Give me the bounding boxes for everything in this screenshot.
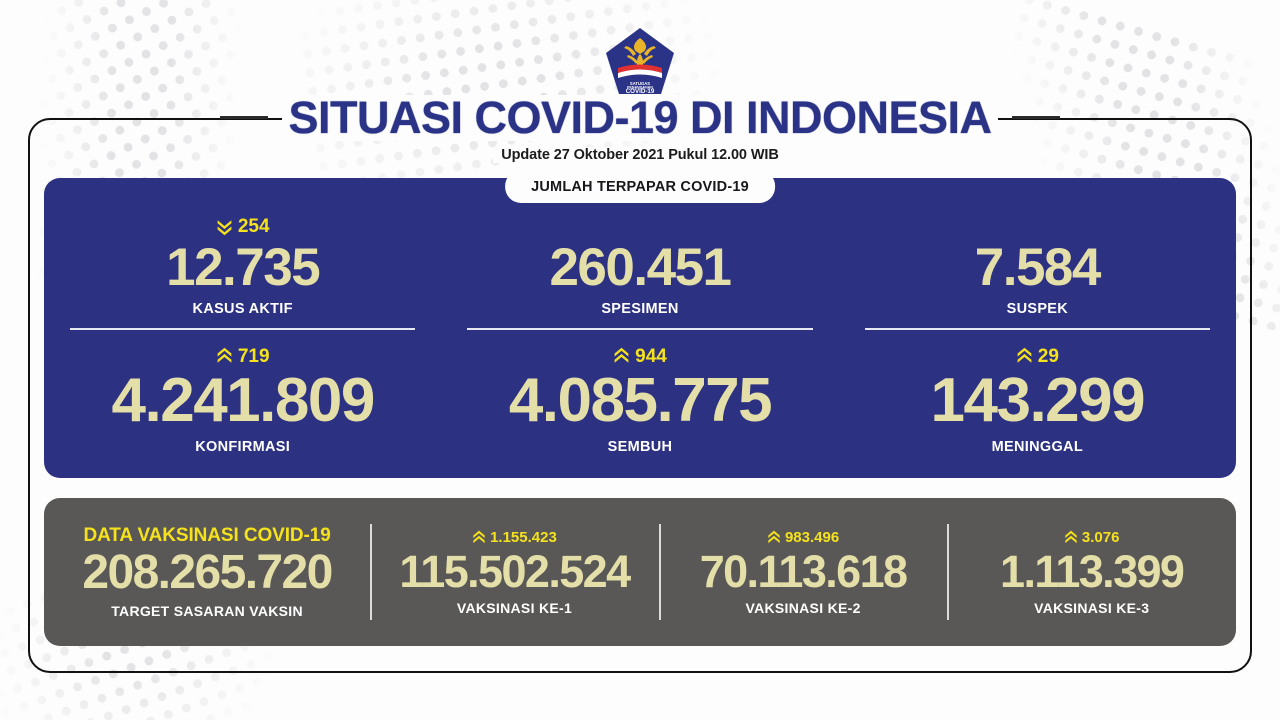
stat-delta-value: 719	[238, 347, 270, 366]
page-title: SITUASI COVID-19 DI INDONESIA	[282, 95, 997, 141]
vax-label: VAKSINASI KE-3	[1034, 600, 1149, 616]
vax-value: 1.113.399	[1000, 549, 1183, 594]
status-badge: JUMLAH TERPAPAR COVID-19	[505, 170, 775, 203]
update-timestamp: Update 27 Oktober 2021 Pukul 12.00 WIB	[493, 147, 786, 163]
title-rule-right	[1012, 116, 1060, 119]
chevron-double-up-icon	[216, 347, 233, 365]
stat-value: 12.735	[166, 241, 319, 294]
infographic-page: SATUGAS PENANGANAN COVID-19 SITUASI COVI…	[0, 0, 1280, 720]
stat-delta-kasus-aktif: 254	[216, 216, 270, 238]
title-row: SITUASI COVID-19 DI INDONESIA	[0, 95, 1280, 141]
stat-value: 260.451	[549, 241, 730, 294]
stat-meninggal: 29 143.299 MENINGGAL	[839, 328, 1236, 478]
stat-value: 143.299	[931, 370, 1145, 432]
chevron-double-down-icon	[216, 218, 233, 236]
stats-grid: 254 12.735 KASUS AKTIF 260.451 SPESIMEN …	[44, 178, 1236, 478]
vax-delta-value: 1.155.423	[490, 530, 557, 545]
stat-value: 7.584	[975, 241, 1100, 294]
vax-delta-dose-2: 983.496	[767, 529, 839, 547]
vax-value: 208.265.720	[82, 549, 331, 597]
stat-delta-meninggal: 29	[1016, 345, 1059, 367]
vax-value: 70.113.618	[700, 549, 907, 594]
vax-value: 115.502.524	[399, 549, 629, 594]
stat-delta-sembuh: 944	[613, 345, 667, 367]
stat-label: SUSPEK	[1007, 301, 1068, 317]
satgas-covid19-logo: SATUGAS PENANGANAN COVID-19	[604, 26, 676, 98]
logo-text-line3: COVID-19	[626, 88, 655, 95]
vaccination-panel: DATA VAKSINASI COVID-19 208.265.720 TARG…	[44, 498, 1236, 646]
stat-label: SPESIMEN	[601, 301, 678, 317]
vax-dose-1: 1.155.423 115.502.524 VAKSINASI KE-1	[370, 498, 659, 646]
stat-label: SEMBUH	[608, 439, 673, 455]
vax-delta-value: 3.076	[1082, 530, 1120, 545]
stat-delta-value: 944	[635, 347, 667, 366]
stat-label: KASUS AKTIF	[193, 301, 293, 317]
chevron-double-up-icon	[1016, 347, 1033, 365]
chevron-double-up-icon	[1064, 530, 1078, 545]
chevron-double-up-icon	[767, 530, 781, 545]
stat-value: 4.241.809	[112, 370, 374, 432]
vax-label: VAKSINASI KE-2	[745, 600, 860, 616]
stat-delta-konfirmasi: 719	[216, 345, 270, 367]
covid-stats-panel: 254 12.735 KASUS AKTIF 260.451 SPESIMEN …	[44, 178, 1236, 478]
chevron-double-up-icon	[472, 530, 486, 545]
vax-delta-value: 983.496	[785, 530, 839, 545]
vax-target: DATA VAKSINASI COVID-19 208.265.720 TARG…	[44, 498, 370, 646]
stat-value: 4.085.775	[509, 370, 771, 432]
vaccination-heading: DATA VAKSINASI COVID-19	[83, 525, 330, 547]
chevron-double-up-icon	[613, 347, 630, 365]
stat-kasus-aktif: 254 12.735 KASUS AKTIF	[44, 178, 441, 328]
stat-sembuh: 944 4.085.775 SEMBUH	[441, 328, 838, 478]
stat-suspek: 7.584 SUSPEK	[839, 178, 1236, 328]
stat-delta-value: 254	[238, 217, 270, 236]
vax-dose-3: 3.076 1.113.399 VAKSINASI KE-3	[947, 498, 1236, 646]
vax-dose-2: 983.496 70.113.618 VAKSINASI KE-2	[659, 498, 948, 646]
stat-label: MENINGGAL	[992, 439, 1083, 455]
title-block: SITUASI COVID-19 DI INDONESIA Update 27 …	[0, 95, 1280, 164]
stat-delta-value: 29	[1038, 347, 1059, 366]
vax-delta-dose-3: 3.076	[1064, 529, 1120, 547]
stat-label: KONFIRMASI	[195, 439, 290, 455]
vax-delta-dose-1: 1.155.423	[472, 529, 557, 547]
vax-label: TARGET SASARAN VAKSIN	[111, 603, 303, 619]
title-rule-left	[220, 116, 268, 119]
vax-label: VAKSINASI KE-1	[457, 600, 572, 616]
stat-konfirmasi: 719 4.241.809 KONFIRMASI	[44, 328, 441, 478]
